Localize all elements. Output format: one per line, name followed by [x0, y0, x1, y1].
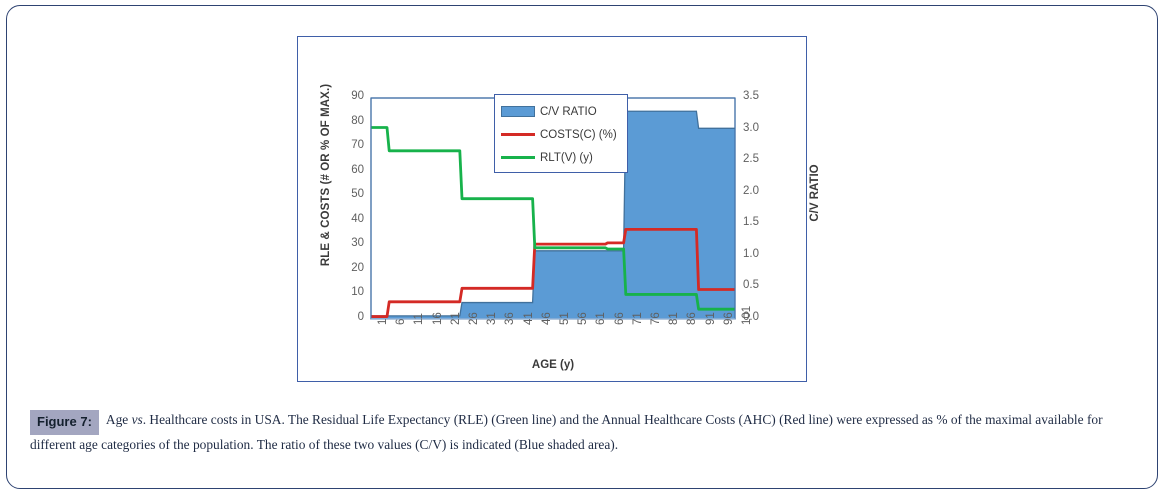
x-axis-tick: 71 — [632, 312, 644, 325]
legend-item-rlt: RLT(V) (y) — [501, 146, 627, 169]
x-axis-tick: 31 — [486, 312, 498, 325]
x-axis-tick: 61 — [595, 312, 607, 325]
x-axis-tick: 11 — [413, 313, 425, 325]
y-axis-left-tick: 20 — [338, 262, 364, 274]
legend-label-cv-ratio: C/V RATIO — [540, 106, 597, 118]
x-axis-tick: 1 — [377, 319, 389, 325]
chart-legend: C/V RATIO COSTS(C) (%) RLT(V) (y) — [494, 94, 628, 173]
caption-segment-1: Age — [106, 412, 132, 427]
x-axis-tick: 36 — [504, 312, 516, 325]
y-axis-left-title: RLE & COSTS (# OR % OF MAX.) — [320, 55, 332, 295]
legend-label-rlt: RLT(V) (y) — [540, 152, 593, 164]
y-axis-right-tick: 1.0 — [743, 248, 773, 260]
legend-swatch-line-green-icon — [501, 156, 535, 159]
y-axis-right-title: C/V RATIO — [809, 123, 821, 263]
x-axis-tick: 41 — [523, 312, 535, 325]
x-axis-tick: 51 — [559, 312, 571, 325]
x-axis-tick: 76 — [650, 312, 662, 325]
chart-card: C/V RATIO COSTS(C) (%) RLT(V) (y) RLE & … — [297, 36, 807, 382]
y-axis-left-tick: 0 — [338, 311, 364, 323]
y-axis-right-tick: 3.5 — [743, 90, 773, 102]
x-axis-tick: 96 — [723, 312, 735, 325]
y-axis-right-tick: 3.0 — [743, 122, 773, 134]
x-axis-tick: 86 — [686, 312, 698, 325]
x-axis-tick: 81 — [668, 312, 680, 325]
y-axis-right-tick: 2.5 — [743, 153, 773, 165]
figure-page: C/V RATIO COSTS(C) (%) RLT(V) (y) RLE & … — [0, 0, 1165, 496]
y-axis-left-tick: 50 — [338, 188, 364, 200]
y-axis-right-tick: 1.5 — [743, 216, 773, 228]
y-axis-left-tick: 60 — [338, 164, 364, 176]
caption-segment-2: . Healthcare costs in USA. The Residual … — [30, 412, 1103, 452]
y-axis-right-tick: 0.5 — [743, 279, 773, 291]
x-axis-title: AGE (y) — [298, 359, 808, 371]
x-axis-tick: 66 — [614, 312, 626, 325]
y-axis-left-tick: 40 — [338, 213, 364, 225]
chart-plot-area: C/V RATIO COSTS(C) (%) RLT(V) (y) RLE & … — [298, 37, 808, 383]
legend-swatch-line-red-icon — [501, 133, 535, 136]
x-axis-tick: 16 — [432, 312, 444, 325]
chart-svg — [298, 37, 808, 383]
legend-swatch-area-icon — [501, 106, 535, 117]
legend-item-cv-ratio: C/V RATIO — [501, 100, 627, 123]
x-axis-tick: 46 — [541, 312, 553, 325]
x-axis-tick: 101 — [741, 306, 753, 325]
figure-number-badge: Figure 7: — [30, 410, 99, 435]
figure-caption-text: Age vs. Healthcare costs in USA. The Res… — [30, 412, 1103, 452]
x-axis-tick: 6 — [395, 319, 407, 325]
legend-label-costs: COSTS(C) (%) — [540, 129, 617, 141]
x-axis-tick: 26 — [468, 312, 480, 325]
y-axis-left-tick: 10 — [338, 286, 364, 298]
figure-caption: Figure 7:Age vs. Healthcare costs in USA… — [30, 410, 1140, 454]
y-axis-left-tick: 30 — [338, 237, 364, 249]
y-axis-left-tick: 80 — [338, 115, 364, 127]
legend-item-costs: COSTS(C) (%) — [501, 123, 627, 146]
x-axis-tick: 56 — [577, 312, 589, 325]
y-axis-left-tick: 90 — [338, 90, 364, 102]
caption-italic-vs: vs — [132, 412, 143, 427]
x-axis-tick: 21 — [450, 312, 462, 325]
y-axis-right-tick: 2.0 — [743, 185, 773, 197]
y-axis-left-tick: 70 — [338, 139, 364, 151]
x-axis-tick: 91 — [705, 312, 717, 325]
